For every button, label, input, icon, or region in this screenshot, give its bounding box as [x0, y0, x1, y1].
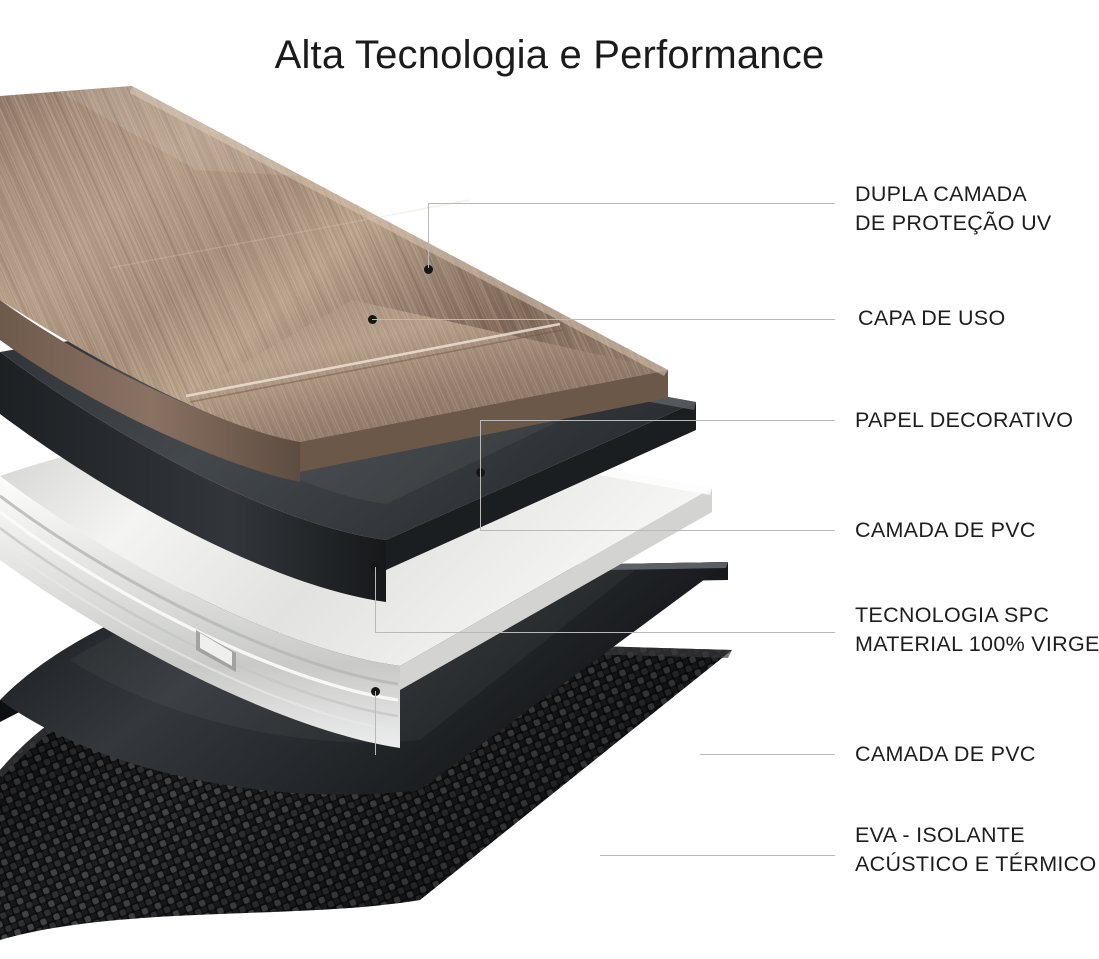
- callout-pvc-bottom-line1: CAMADA DE PVC: [855, 742, 1036, 766]
- leader-line-eva: [600, 855, 835, 856]
- leader-line-pvc-top-vertical: [480, 473, 481, 531]
- leader-line-spc-horizontal: [375, 632, 835, 633]
- flooring-layers-illustration: [0, 0, 820, 959]
- callout-label-spc: TECNOLOGIA SPC MATERIAL 100% VIRGEM: [855, 601, 1099, 659]
- callout-wear-line1: CAPA DE USO: [858, 306, 1005, 330]
- callout-uv-line2: DE PROTEÇÃO UV: [855, 209, 1052, 238]
- callout-label-paper: PAPEL DECORATIVO: [855, 406, 1073, 435]
- leader-line-spc-vertical: [375, 567, 376, 633]
- callout-eva-line2: ACÚSTICO E TÉRMICO: [855, 850, 1097, 879]
- leader-line-pvc-bottom-vertical: [375, 691, 376, 755]
- callout-label-wear: CAPA DE USO: [858, 304, 1005, 333]
- callout-pvc-top-line1: CAMADA DE PVC: [855, 518, 1036, 542]
- callout-uv-line1: DUPLA CAMADA: [855, 182, 1027, 206]
- callout-eva-line1: EVA - ISOLANTE: [855, 823, 1025, 847]
- callout-paper-line1: PAPEL DECORATIVO: [855, 408, 1073, 432]
- callout-label-uv: DUPLA CAMADA DE PROTEÇÃO UV: [855, 180, 1052, 238]
- callout-spc-line2: MATERIAL 100% VIRGEM: [855, 630, 1099, 659]
- leader-line-paper-horizontal: [480, 420, 835, 421]
- leader-line-uv-horizontal: [428, 203, 835, 204]
- leader-line-uv-vertical: [428, 203, 429, 268]
- leader-line-pvc-bottom-horizontal: [700, 754, 835, 755]
- leader-line-paper-vertical: [480, 420, 481, 473]
- callout-label-pvc-top: CAMADA DE PVC: [855, 516, 1036, 545]
- diagram-canvas: Alta Tecnologia e Performance: [0, 0, 1099, 959]
- leader-line-pvc-top-horizontal: [480, 530, 835, 531]
- callout-spc-line1: TECNOLOGIA SPC: [855, 603, 1049, 627]
- leader-line-wear: [372, 319, 835, 320]
- callout-label-eva: EVA - ISOLANTE ACÚSTICO E TÉRMICO: [855, 821, 1097, 879]
- callout-label-pvc-bottom: CAMADA DE PVC: [855, 740, 1036, 769]
